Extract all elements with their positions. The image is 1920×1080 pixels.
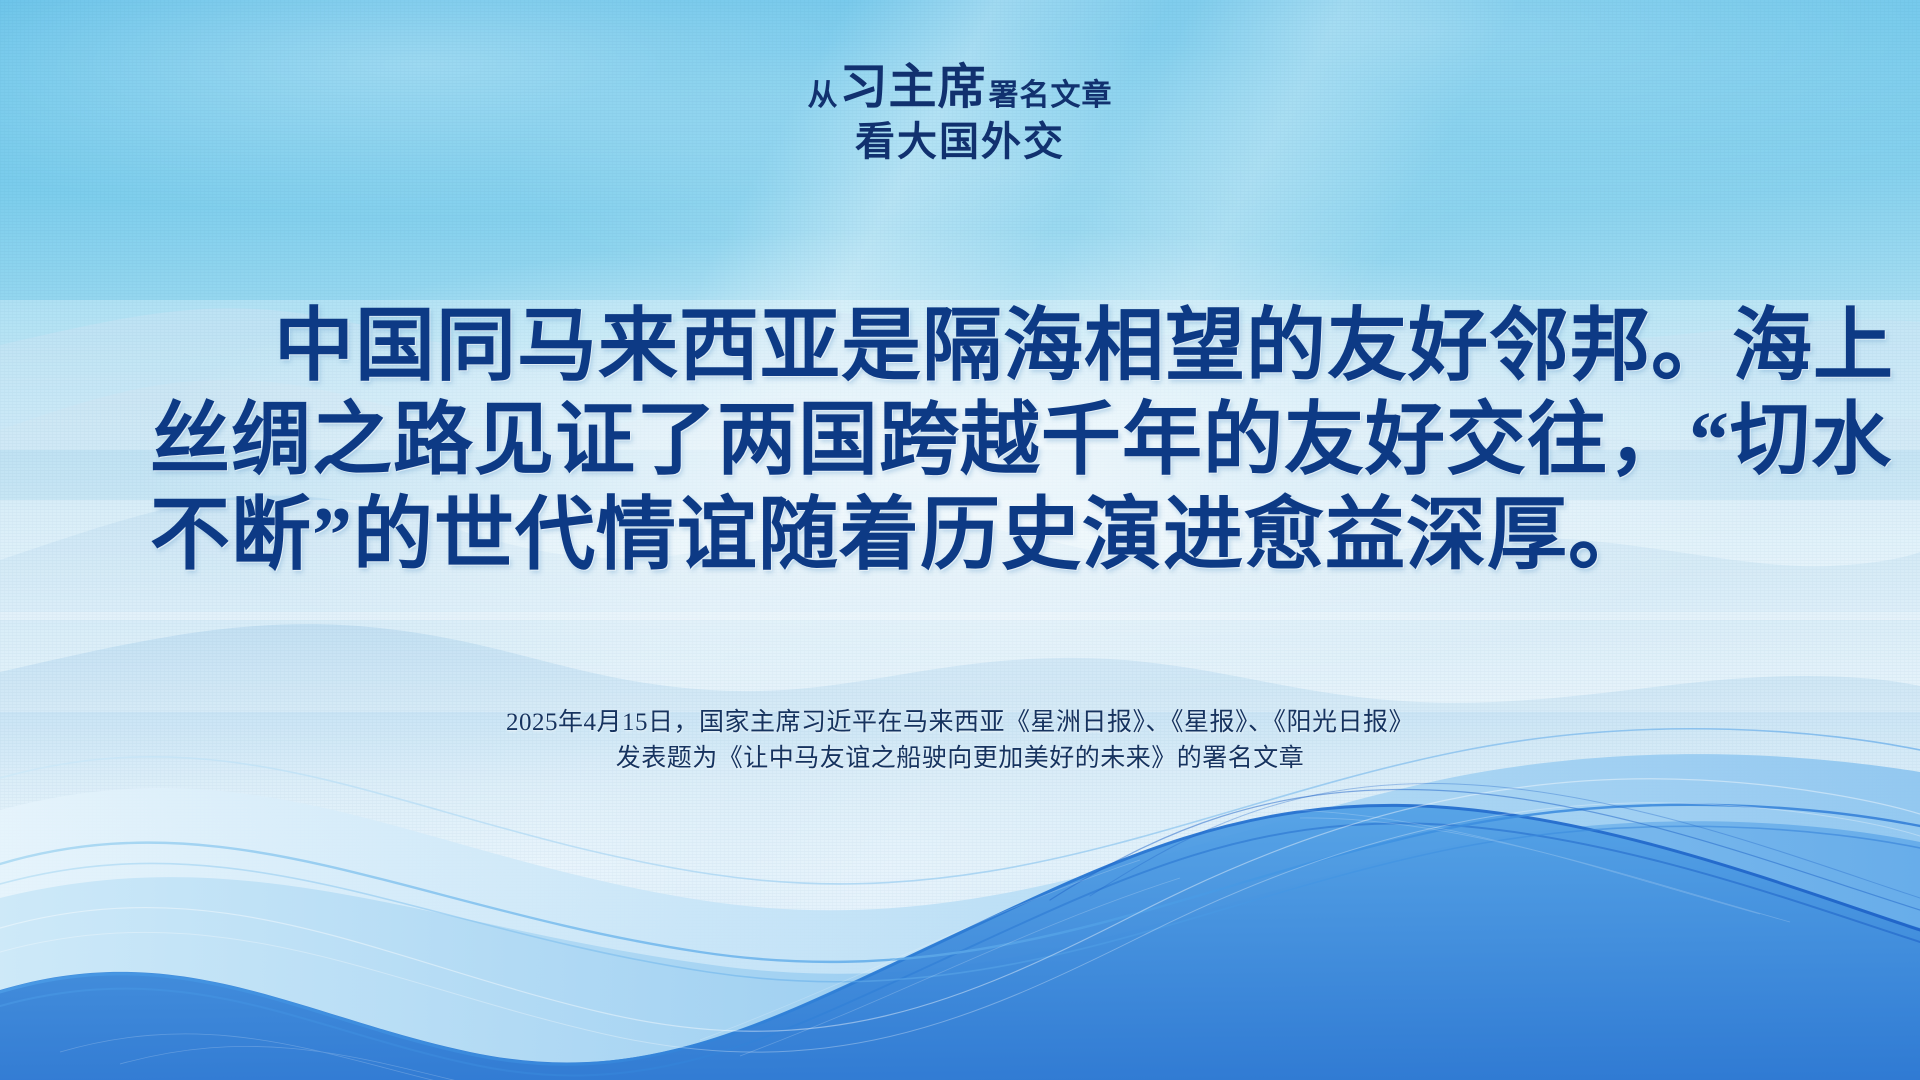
- source-caption: 2025年4月15日，国家主席习近平在马来西亚《星洲日报》、《星报》、《阳光日报…: [0, 705, 1920, 776]
- header-badge-line-1: 从 习主席 署名文章: [0, 64, 1920, 112]
- header-highlight: 习主席: [839, 64, 986, 112]
- poster-canvas: 从 习主席 署名文章 看大国外交 中国同马来西亚是隔海相望的友好邻邦。海上 丝绸…: [0, 0, 1920, 1080]
- header-prefix: 从: [807, 81, 837, 111]
- caption-line: 发表题为《让中马友谊之船驶向更加美好的未来》的署名文章: [0, 741, 1920, 777]
- quote-line: 中国同马来西亚是隔海相望的友好邻邦。海上: [150, 300, 1770, 394]
- header-suffix: 署名文章: [989, 81, 1113, 111]
- header-badge-line-2: 看大国外交: [0, 122, 1920, 162]
- quote-line: 不断”的世代情谊随着历史演进愈益深厚。: [150, 489, 1770, 583]
- main-quote: 中国同马来西亚是隔海相望的友好邻邦。海上 丝绸之路见证了两国跨越千年的友好交往，…: [150, 300, 1770, 583]
- quote-line: 丝绸之路见证了两国跨越千年的友好交往，“切水: [150, 394, 1770, 488]
- caption-line: 2025年4月15日，国家主席习近平在马来西亚《星洲日报》、《星报》、《阳光日报…: [0, 705, 1920, 741]
- header-badge: 从 习主席 署名文章 看大国外交: [0, 64, 1920, 162]
